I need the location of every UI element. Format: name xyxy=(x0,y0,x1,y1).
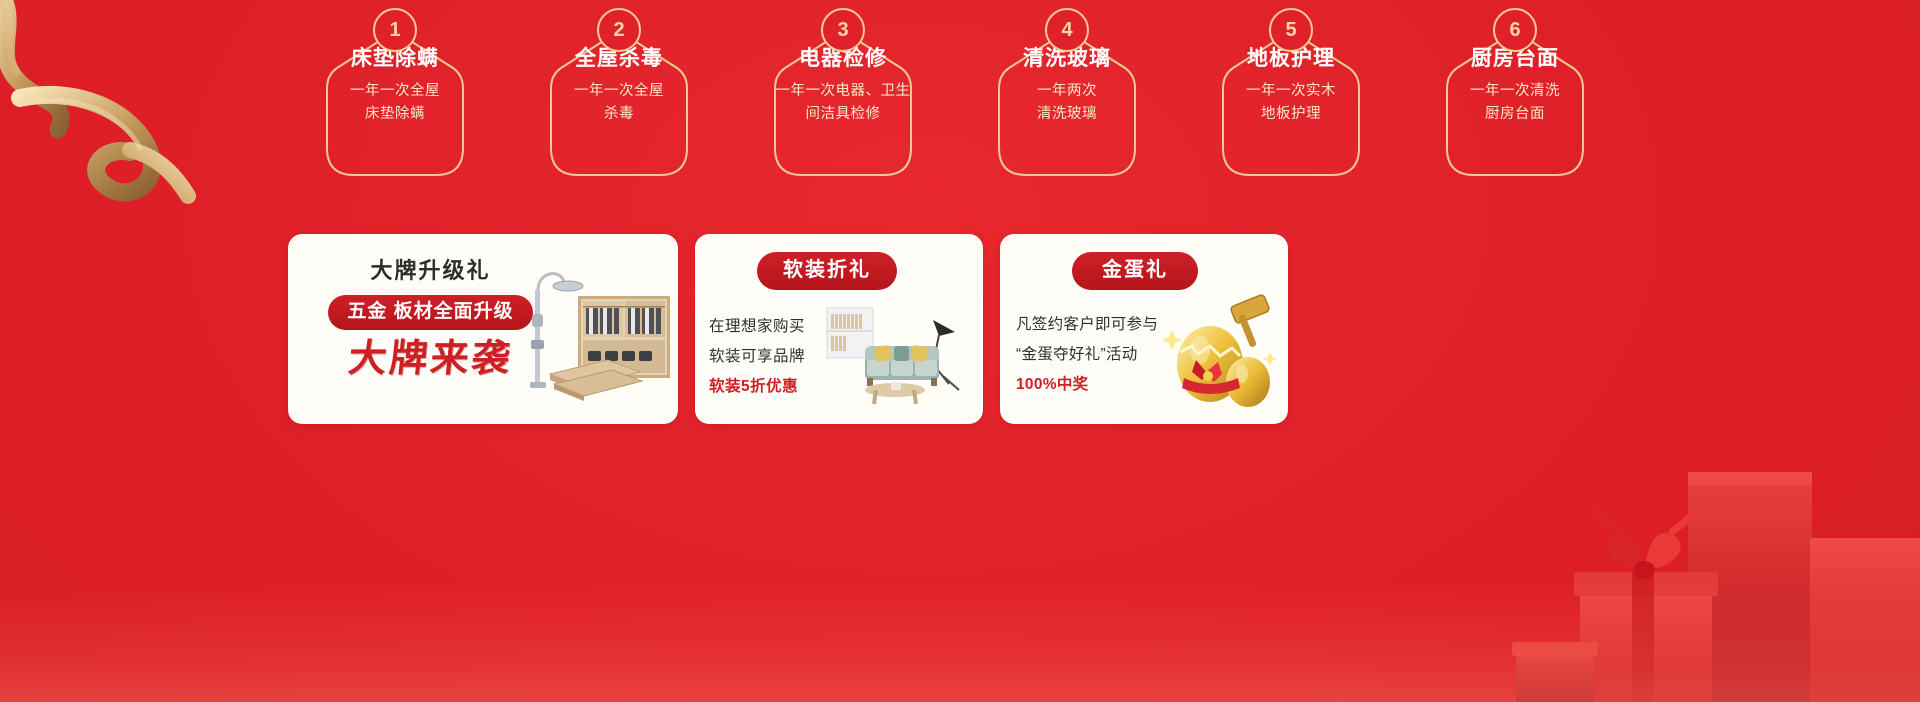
badge-number: 4 xyxy=(1045,8,1089,52)
living-room-sofa-lamp-image xyxy=(821,302,981,414)
golden-egg-line: “金蛋夺好礼”活动 xyxy=(1016,340,1166,370)
promo-banner: 1 床垫除螨 一年一次全屋 床垫除螨 2 全屋杀毒 一年一次全屋 xyxy=(0,0,1920,702)
service-badge[interactable]: 2 全屋杀毒 一年一次全屋 杀毒 xyxy=(524,8,714,183)
promo-card-soft-decor[interactable]: 软装折礼 在理想家购买 软装可享品牌 软装5折优惠 xyxy=(695,234,983,424)
soft-decor-pill: 软装折礼 xyxy=(757,252,897,290)
gold-ribbon-decoration xyxy=(0,0,240,290)
soft-decor-line: 软装可享品牌 xyxy=(709,342,829,372)
golden-egg-text-block: 凡签约客户即可参与 “金蛋夺好礼”活动 100%中奖 xyxy=(1016,310,1166,401)
badge-number: 6 xyxy=(1493,8,1537,52)
shower-wardrobe-panels-image xyxy=(520,256,672,406)
badge-desc-line: 一年一次清洗 xyxy=(1470,80,1560,102)
soft-decor-offer-line: 软装5折优惠 xyxy=(709,372,829,402)
badge-desc-line: 床垫除螨 xyxy=(365,103,425,125)
badge-body: 厨房台面 一年一次清洗 厨房台面 xyxy=(1420,46,1610,166)
golden-egg-pill: 金蛋礼 xyxy=(1072,252,1198,290)
promo-card-brand-upgrade[interactable]: 大牌升级礼 五金 板材全面升级 大牌来袭 xyxy=(288,234,678,424)
brand-upgrade-pill: 五金 板材全面升级 xyxy=(328,295,533,330)
golden-egg-hammer-image xyxy=(1148,290,1288,415)
brand-upgrade-text-block: 大牌升级礼 五金 板材全面升级 大牌来袭 xyxy=(328,260,533,378)
badge-desc-line: 清洗玻璃 xyxy=(1037,103,1097,125)
badge-body: 全屋杀毒 一年一次全屋 杀毒 xyxy=(524,46,714,166)
badge-body: 床垫除螨 一年一次全屋 床垫除螨 xyxy=(300,46,490,166)
badge-desc-line: 一年一次电器、卫生 xyxy=(776,80,911,102)
badge-desc-line: 杀毒 xyxy=(604,103,634,125)
badge-desc-line: 一年两次 xyxy=(1037,80,1097,102)
badge-desc-line: 一年一次实木 xyxy=(1246,80,1336,102)
brand-upgrade-headline: 大牌来袭 xyxy=(326,340,535,378)
golden-egg-offer-line: 100%中奖 xyxy=(1016,370,1166,400)
badge-body: 地板护理 一年一次实木 地板护理 xyxy=(1196,46,1386,166)
service-badge[interactable]: 5 地板护理 一年一次实木 地板护理 xyxy=(1196,8,1386,183)
service-badge[interactable]: 6 厨房台面 一年一次清洗 厨房台面 xyxy=(1420,8,1610,183)
promo-card-row: 大牌升级礼 五金 板材全面升级 大牌来袭 xyxy=(288,234,1288,424)
promo-card-golden-egg[interactable]: 金蛋礼 凡签约客户即可参与 “金蛋夺好礼”活动 100%中奖 xyxy=(1000,234,1288,424)
badge-number: 2 xyxy=(597,8,641,52)
service-badge[interactable]: 4 清洗玻璃 一年两次 清洗玻璃 xyxy=(972,8,1162,183)
service-badge[interactable]: 1 床垫除螨 一年一次全屋 床垫除螨 xyxy=(300,8,490,183)
red-gift-boxes-decoration xyxy=(1280,442,1920,702)
service-badge[interactable]: 3 电器检修 一年一次电器、卫生 间洁具检修 xyxy=(748,8,938,183)
badge-desc-line: 一年一次全屋 xyxy=(574,80,664,102)
soft-decor-text-block: 在理想家购买 软装可享品牌 软装5折优惠 xyxy=(709,312,829,403)
badge-desc-line: 地板护理 xyxy=(1261,103,1321,125)
brand-upgrade-subtitle: 大牌升级礼 xyxy=(328,260,533,282)
badge-number: 5 xyxy=(1269,8,1313,52)
badge-number: 3 xyxy=(821,8,865,52)
badge-desc-line: 一年一次全屋 xyxy=(350,80,440,102)
service-badge-row: 1 床垫除螨 一年一次全屋 床垫除螨 2 全屋杀毒 一年一次全屋 xyxy=(300,8,1610,183)
soft-decor-line: 在理想家购买 xyxy=(709,312,829,342)
badge-number: 1 xyxy=(373,8,417,52)
golden-egg-line: 凡签约客户即可参与 xyxy=(1016,310,1166,340)
badge-body: 清洗玻璃 一年两次 清洗玻璃 xyxy=(972,46,1162,166)
badge-desc-line: 厨房台面 xyxy=(1485,103,1545,125)
badge-body: 电器检修 一年一次电器、卫生 间洁具检修 xyxy=(748,46,938,166)
badge-desc-line: 间洁具检修 xyxy=(806,103,881,125)
floor-glow xyxy=(0,582,1920,702)
